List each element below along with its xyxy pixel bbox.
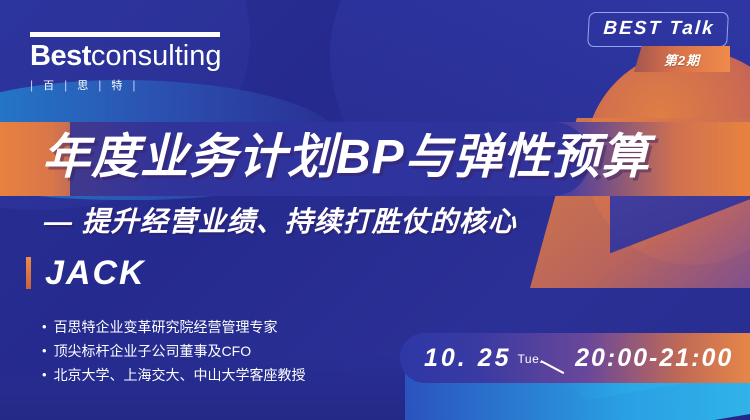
episode-ribbon: 第2期	[634, 46, 730, 72]
promo-banner: Bestconsulting | 百 | 思 | 特 | BEST Talk 第…	[0, 0, 750, 420]
speaker-credentials-list: • 百思特企业变革研究院经营管理专家 • 顶尖标杆企业子公司董事及CFO • 北…	[42, 315, 306, 387]
subtitle: — 提升经营业绩、持续打胜仗的核心	[44, 203, 744, 241]
logo-pipe-4: |	[132, 78, 136, 92]
event-time-range: 20:00-21:00	[575, 344, 733, 373]
logo-cn-char-3: 特	[111, 77, 123, 93]
list-item: • 北京大学、上海交大、中山大学客座教授	[42, 363, 306, 387]
best-talk-badge: BEST Talk 第2期	[588, 12, 728, 47]
logo-word-consulting: consulting	[91, 40, 222, 72]
logo-chinese-name: | 百 | 思 | 特 |	[30, 77, 220, 93]
bullet-dot-icon: •	[42, 339, 47, 363]
speaker-accent-bar	[26, 257, 31, 289]
bullet-dot-icon: •	[42, 363, 47, 387]
logo-pipe-3: |	[98, 78, 102, 92]
main-title: 年度业务计划BP与弹性预算	[42, 126, 742, 190]
logo-pipe-2: |	[64, 78, 68, 92]
list-item: • 百思特企业变革研究院经营管理专家	[42, 315, 306, 339]
credential-text: 顶尖标杆企业子公司董事及CFO	[54, 339, 252, 363]
event-day-of-week: Tue.	[518, 352, 544, 366]
day-of-week-group: Tue.	[518, 350, 544, 366]
schedule-bar: 10. 25 Tue. 20:00-21:00	[400, 333, 750, 383]
list-item: • 顶尖标杆企业子公司董事及CFO	[42, 339, 306, 363]
credential-text: 百思特企业变革研究院经营管理专家	[54, 315, 278, 339]
credential-text: 北京大学、上海交大、中山大学客座教授	[54, 363, 306, 387]
slash-divider-icon	[541, 360, 565, 374]
logo-rule	[30, 32, 220, 37]
speaker-block: JACK	[26, 255, 146, 291]
logo-pipe-1: |	[30, 78, 34, 92]
logo-cn-char-2: 思	[77, 77, 89, 93]
best-talk-badge-box: BEST Talk	[587, 12, 729, 47]
event-date: 10. 25	[424, 344, 512, 373]
logo-cn-char-1: 百	[43, 77, 55, 93]
speaker-name: JACK	[45, 255, 146, 291]
logo-word-best: Best	[30, 40, 91, 72]
best-talk-badge-label: BEST Talk	[600, 18, 717, 40]
episode-ribbon-label: 第2期	[664, 50, 700, 69]
bullet-dot-icon: •	[42, 315, 47, 339]
logo-wordmark: Bestconsulting	[30, 41, 220, 71]
brand-logo: Bestconsulting | 百 | 思 | 特 |	[30, 32, 220, 93]
